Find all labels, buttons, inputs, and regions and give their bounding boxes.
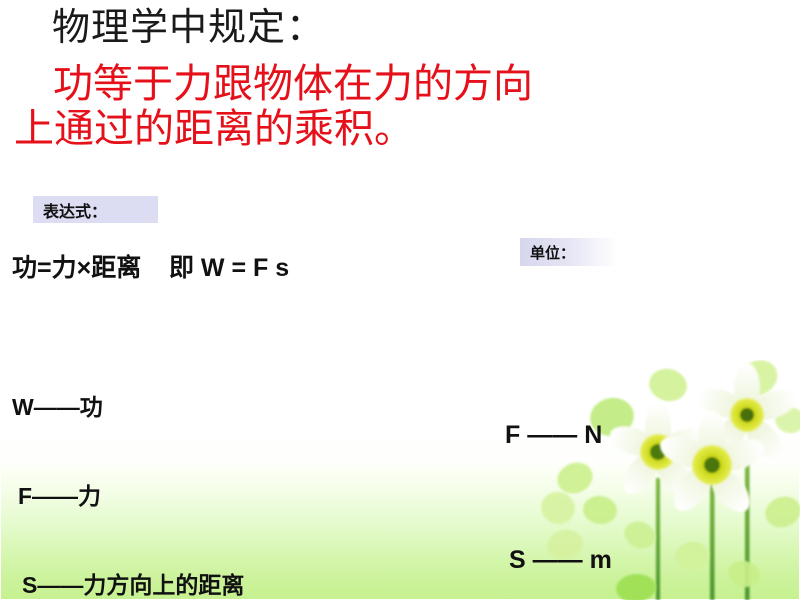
unit-symbol-f: F [505,421,520,449]
unit-symbol-s: S [509,546,526,574]
work-formula: 功=力×距离 即 W = F s [12,248,289,284]
unit-row-distance: S —— m [505,540,634,582]
unit-label-box: 单位： [520,238,618,266]
unit-value-n: N [584,421,602,449]
unit-value-m: m [590,546,612,574]
definition-line-2: 上通过的距离的乘积。 [8,107,533,152]
legend-item-s: S——力方向上的距离 [12,571,244,600]
unit-dash-1: —— [520,421,584,449]
page-title: 物理学中规定： [52,8,325,49]
legend-item-f: F——力 [12,482,244,512]
expression-label-box: 表达式： [33,196,158,223]
slide-canvas: 物理学中规定： 功等于力跟物体在力的方向 上通过的距离的乘积。 表达式： 功=力… [0,0,800,600]
symbol-legend: W——功 F——力 S——力方向上的距离 [12,334,244,600]
unit-list: F —— N S —— m W ——NJ·m [505,332,634,600]
definition-statement: 功等于力跟物体在力的方向 上通过的距离的乘积。 [8,62,533,152]
definition-line-1: 功等于力跟物体在力的方向 [8,62,533,107]
unit-dash-2: —— [526,546,590,574]
legend-item-w: W——功 [12,393,244,423]
unit-row-force: F —— N [505,415,634,457]
